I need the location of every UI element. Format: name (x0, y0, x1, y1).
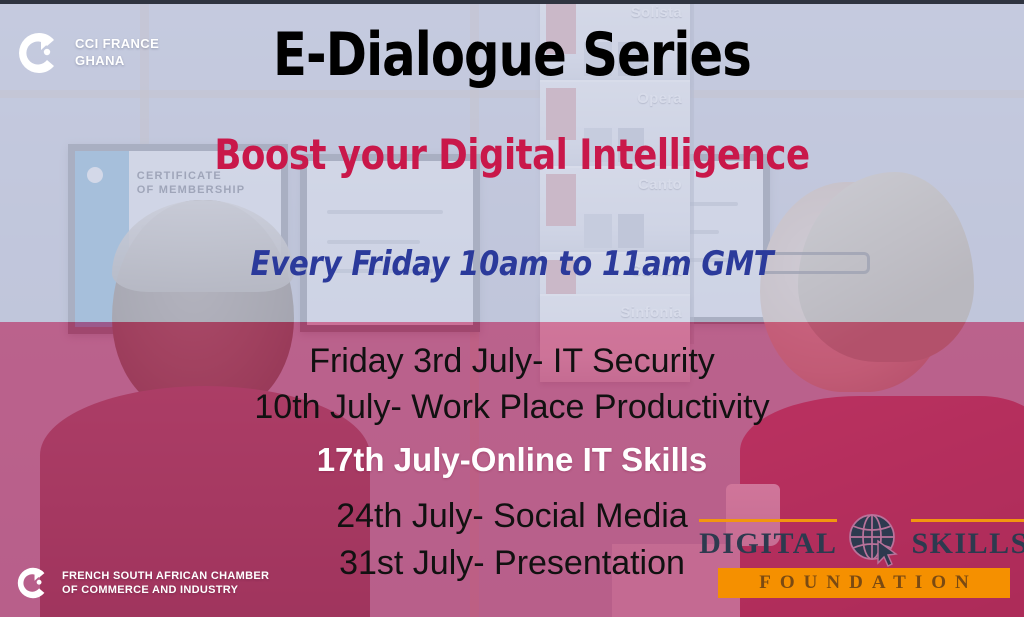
dsf-word-skills: SKILLS (911, 519, 1024, 561)
cci-circular-mark-icon (14, 564, 52, 602)
list-item: 10th July- Work Place Productivity (0, 384, 1024, 430)
globe-with-cursor-icon (843, 511, 905, 569)
chamber-name-line1: FRENCH SOUTH AFRICAN CHAMBER (62, 570, 269, 582)
list-item: Friday 3rd July- IT Security (0, 338, 1024, 384)
chamber-name-line2: OF COMMERCE AND INDUSTRY (62, 584, 238, 596)
dsf-word-digital: DIGITAL (699, 519, 837, 561)
dsf-wordmark-row: DIGITAL SK (718, 512, 1010, 568)
list-item-featured: 17th July-Online IT Skills (0, 438, 1024, 483)
promotional-poster: CERTIFICATE OF MEMBERSHIP Solista (0, 0, 1024, 617)
subtitle: Boost your Digital Intelligence (31, 130, 994, 179)
dsf-word-foundation: FOUNDATION (718, 568, 1010, 598)
poster-content: CCI FRANCE GHANA E-Dialogue Series Boost… (0, 4, 1024, 617)
page-title: E-Dialogue Series (41, 20, 983, 90)
french-south-african-chamber-logo: FRENCH SOUTH AFRICAN CHAMBER OF COMMERCE… (14, 564, 269, 602)
digital-skills-foundation-logo: DIGITAL SK (718, 512, 1010, 598)
schedule-timing: Every Friday 10am to 11am GMT (26, 244, 999, 284)
chamber-logo-text: FRENCH SOUTH AFRICAN CHAMBER OF COMMERCE… (62, 569, 269, 598)
